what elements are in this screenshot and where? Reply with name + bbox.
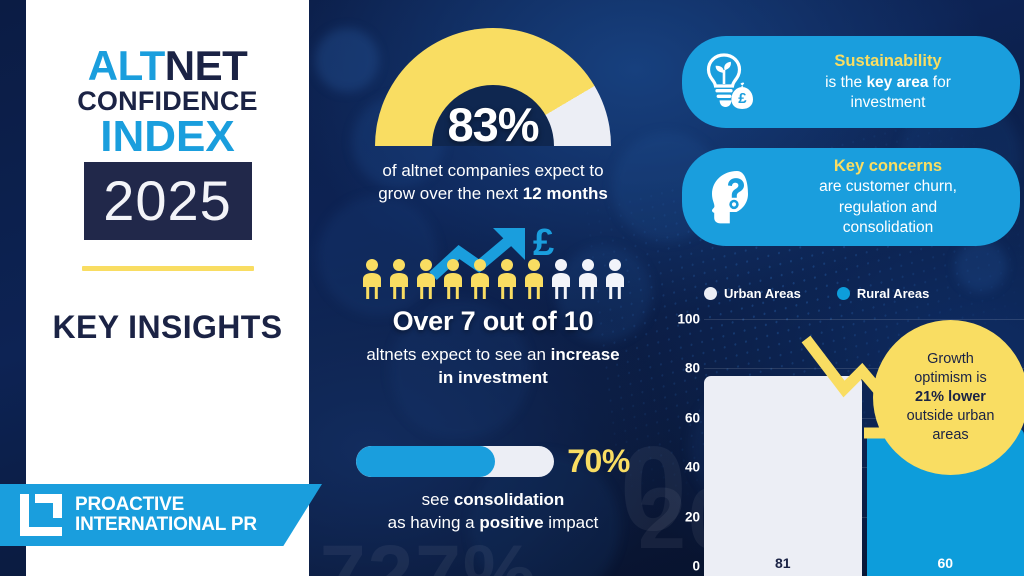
legend-item: Rural Areas [837, 286, 930, 301]
logo-year-box: 2025 [84, 162, 252, 240]
y-axis-tick-label: 0 [692, 559, 700, 574]
growth-optimism-callout-text: Growth optimism is 21% lower outside urb… [907, 350, 995, 446]
y-axis-tick-label: 20 [685, 509, 700, 524]
circle-bold: 21% lower [915, 389, 986, 405]
legend-item: Urban Areas [704, 286, 801, 301]
people-caption-bold2: in investment [438, 368, 548, 387]
callout-sustainability: £ Sustainability is the key area for inv… [682, 36, 1020, 128]
person-icon-filled [521, 258, 547, 300]
callout-key-concerns: Key concerns are customer churn, regulat… [682, 148, 1020, 246]
progress-stat-block: 70% see consolidation as having a positi… [333, 443, 653, 535]
y-axis-tick-label: 80 [685, 361, 700, 376]
person-icon-filled [359, 258, 385, 300]
person-icon-empty [575, 258, 601, 300]
progress-caption-pre2: as having a [388, 513, 480, 532]
progress-bar-track [356, 446, 554, 477]
gauge-stat-block: 83% of altnet companies expect to grow o… [333, 28, 653, 206]
callout-key-concerns-line1: are customer churn, [819, 178, 957, 195]
progress-caption-line2: as having a positive impact [333, 512, 653, 535]
people-caption-bold1: increase [551, 345, 620, 364]
person-icon-empty [548, 258, 574, 300]
callout-sustainability-line2: investment [851, 94, 926, 111]
y-axis-tick-label: 60 [685, 410, 700, 425]
gauge-caption: of altnet companies expect to grow over … [333, 160, 653, 206]
growth-optimism-callout: Growth optimism is 21% lower outside urb… [873, 320, 1024, 475]
half-donut-gauge: 83% [375, 28, 611, 146]
head-question-mark-icon [700, 165, 762, 229]
y-axis-tick-label: 40 [685, 460, 700, 475]
gauge-caption-bold: 12 months [523, 184, 608, 203]
lightbulb-plant-moneybag-icon: £ [700, 51, 762, 113]
callout-sustainability-bold: key area [866, 74, 928, 91]
circle-line2: optimism is [914, 370, 987, 386]
page-subtitle: KEY INSIGHTS [26, 309, 309, 346]
pr-wordmark-line2: INTERNATIONAL PR [75, 515, 257, 535]
pound-currency-icon: £ [533, 224, 554, 262]
logo-year-text: 2025 [103, 168, 232, 233]
logo-line-altnet: ALTNET [26, 46, 309, 86]
circle-line4: areas [932, 427, 968, 443]
logo-net-text: NET [165, 42, 248, 89]
legend-label: Urban Areas [724, 286, 801, 301]
legend-swatch-icon [837, 287, 850, 300]
progress-caption-pre: see [422, 490, 454, 509]
person-icon-filled [467, 258, 493, 300]
infographic-canvas: 0 20 727% ALTNET CONFIDENCE INDEX 2025 K… [0, 0, 1024, 576]
gauge-caption-line1: of altnet companies expect to [333, 160, 653, 183]
people-caption-line2: in investment [333, 367, 653, 390]
progress-caption-line1: see consolidation [333, 489, 653, 512]
chart-y-axis: 100806040200 [662, 319, 700, 566]
callout-key-concerns-line2: regulation and [839, 199, 937, 216]
callout-sustainability-text: Sustainability is the key area for inves… [772, 51, 1004, 113]
person-icon-filled [494, 258, 520, 300]
people-icon-row [333, 258, 653, 300]
progress-caption-bold1: consolidation [454, 490, 565, 509]
callout-key-concerns-text: Key concerns are customer churn, regulat… [772, 156, 1004, 239]
altnet-index-logo: ALTNET CONFIDENCE INDEX 2025 KEY INSIGHT… [26, 46, 309, 346]
people-artwork: £ [333, 228, 653, 300]
y-axis-tick-label: 100 [677, 312, 700, 327]
person-icon-empty [602, 258, 628, 300]
progress-caption-bold2: positive [479, 513, 543, 532]
proactive-bracket-mark-icon [20, 494, 62, 536]
people-stat-block: £ Over 7 out of 10 altnets expect to see… [333, 228, 653, 390]
svg-text:£: £ [738, 90, 747, 107]
gauge-caption-mid: grow over the next [378, 184, 523, 203]
people-caption-line1: altnets expect to see an increase [333, 344, 653, 367]
legend-swatch-icon [704, 287, 717, 300]
callout-sustainability-pre: is the [825, 74, 866, 91]
progress-value-label: 70% [567, 443, 630, 480]
chart-legend: Urban AreasRural Areas [704, 286, 929, 301]
person-icon-filled [386, 258, 412, 300]
callout-sustainability-post: for [929, 74, 951, 91]
proactive-pr-wordmark: PROACTIVE INTERNATIONAL PR [75, 495, 257, 535]
person-icon-filled [440, 258, 466, 300]
callout-sustainability-highlight: Sustainability [772, 51, 1004, 73]
progress-caption-post2: impact [544, 513, 599, 532]
circle-line3: outside urban [907, 408, 995, 424]
gauge-caption-line2: grow over the next 12 months [333, 183, 653, 206]
legend-label: Rural Areas [857, 286, 930, 301]
circle-line1: Growth [927, 351, 974, 367]
gridline [704, 319, 1024, 320]
person-icon-filled [413, 258, 439, 300]
people-caption-pre: altnets expect to see an [366, 345, 550, 364]
people-headline: Over 7 out of 10 [333, 306, 653, 337]
people-caption: altnets expect to see an increase in inv… [333, 344, 653, 390]
yellow-divider [82, 266, 254, 271]
bar-column: 81 [704, 329, 862, 576]
callout-key-concerns-line3: consolidation [843, 219, 933, 236]
callout-key-concerns-highlight: Key concerns [772, 156, 1004, 178]
logo-line-index: INDEX [26, 115, 309, 159]
progress-caption: see consolidation as having a positive i… [333, 489, 653, 535]
progress-bar-fill [356, 446, 495, 477]
pr-wordmark-line1: PROACTIVE [75, 495, 257, 515]
logo-alt-text: ALT [88, 42, 165, 89]
proactive-pr-banner: PROACTIVE INTERNATIONAL PR [0, 484, 322, 546]
bar-urban-areas: 81 [704, 376, 862, 576]
gauge-value-label: 83% [375, 97, 611, 146]
progress-row: 70% [333, 443, 653, 480]
